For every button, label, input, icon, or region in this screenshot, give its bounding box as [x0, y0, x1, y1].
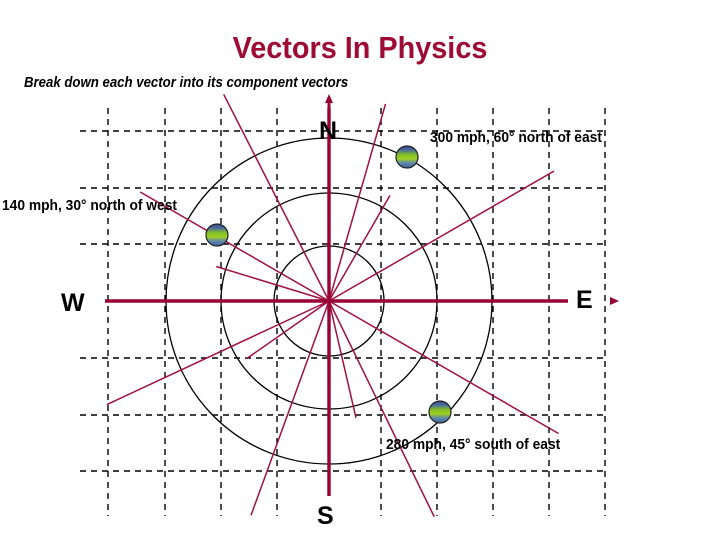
- vector-label-140mph: 140 mph, 30° north of west: [2, 198, 177, 213]
- dashed-grid: [80, 108, 608, 516]
- compass-label-north: N: [319, 119, 337, 144]
- slide-canvas: Vectors In Physics Break down each vecto…: [0, 0, 720, 540]
- compass-label-east: E: [576, 288, 593, 313]
- vector-label-300mph: 300 mph, 60° north of east: [430, 130, 602, 145]
- radial-vector-lines: [107, 94, 559, 516]
- vector-label-280mph: 280 mph, 45° south of east: [386, 437, 560, 452]
- compass-label-south: S: [317, 504, 334, 529]
- vector-compass-diagram: [0, 0, 720, 540]
- compass-label-west: W: [61, 291, 85, 316]
